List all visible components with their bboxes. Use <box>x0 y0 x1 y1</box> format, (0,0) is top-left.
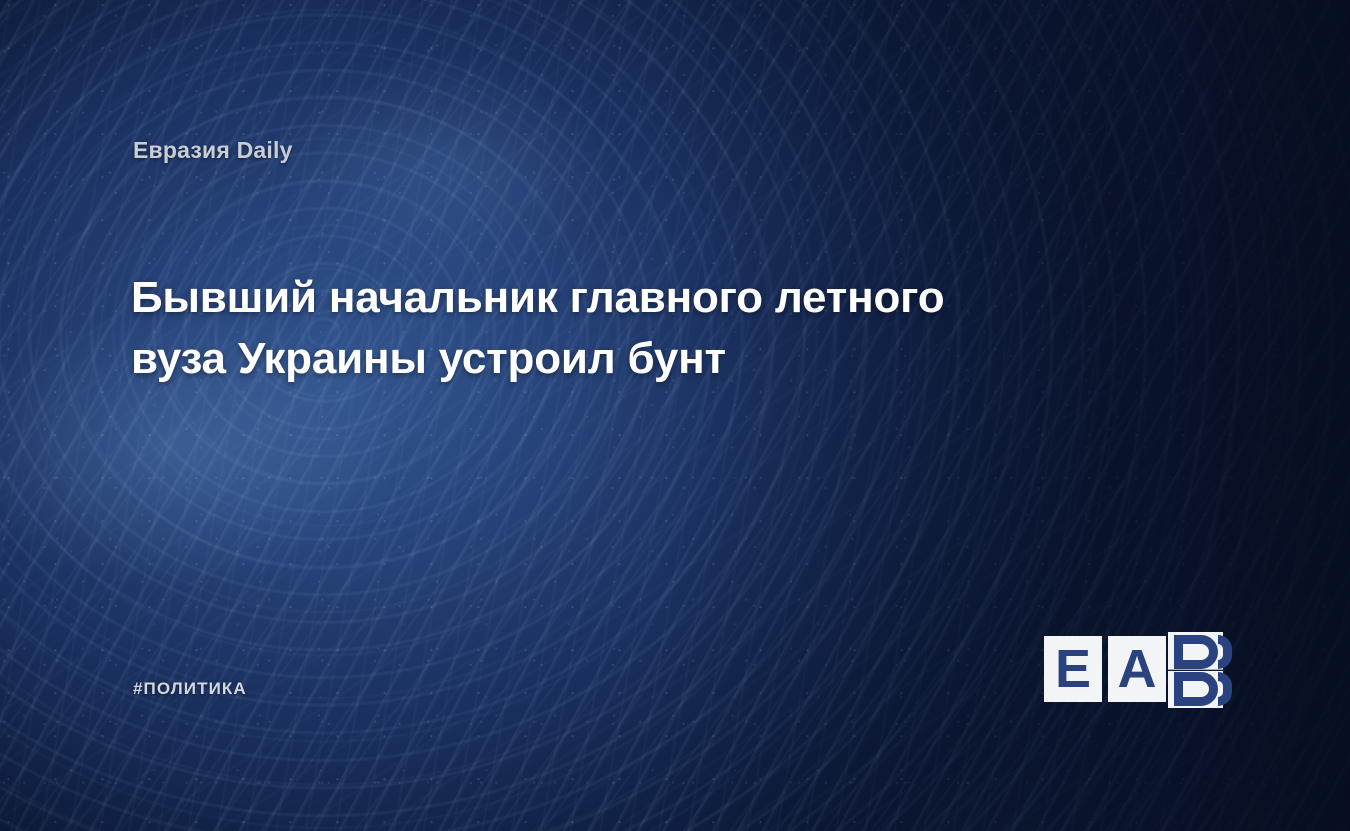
category-tag-politics[interactable]: #ПОЛИТИКА <box>133 679 247 699</box>
logo-letter-d-bowl-bottom-overshoot <box>1218 672 1232 706</box>
headline-line-2: вуза Украины устроил бунт <box>131 329 1161 390</box>
eadaily-logo[interactable]: E A <box>1044 632 1224 708</box>
logo-letter-a: A <box>1108 636 1166 702</box>
logo-letter-d-bowl-top-overshoot <box>1218 635 1232 669</box>
logo-d-seam <box>1168 669 1223 671</box>
page-title: Бывший начальник главного летного вуза У… <box>131 268 1161 389</box>
logo-letter-e: E <box>1044 636 1102 702</box>
card-content: Евразия Daily Бывший начальник главного … <box>0 0 1350 831</box>
logo-letter-d-top <box>1174 635 1218 669</box>
news-cover-card: Евразия Daily Бывший начальник главного … <box>0 0 1350 831</box>
logo-letter-d-bottom <box>1174 672 1218 706</box>
site-brand-name[interactable]: Евразия Daily <box>133 137 293 164</box>
headline-line-1: Бывший начальник главного летного <box>131 268 1161 329</box>
